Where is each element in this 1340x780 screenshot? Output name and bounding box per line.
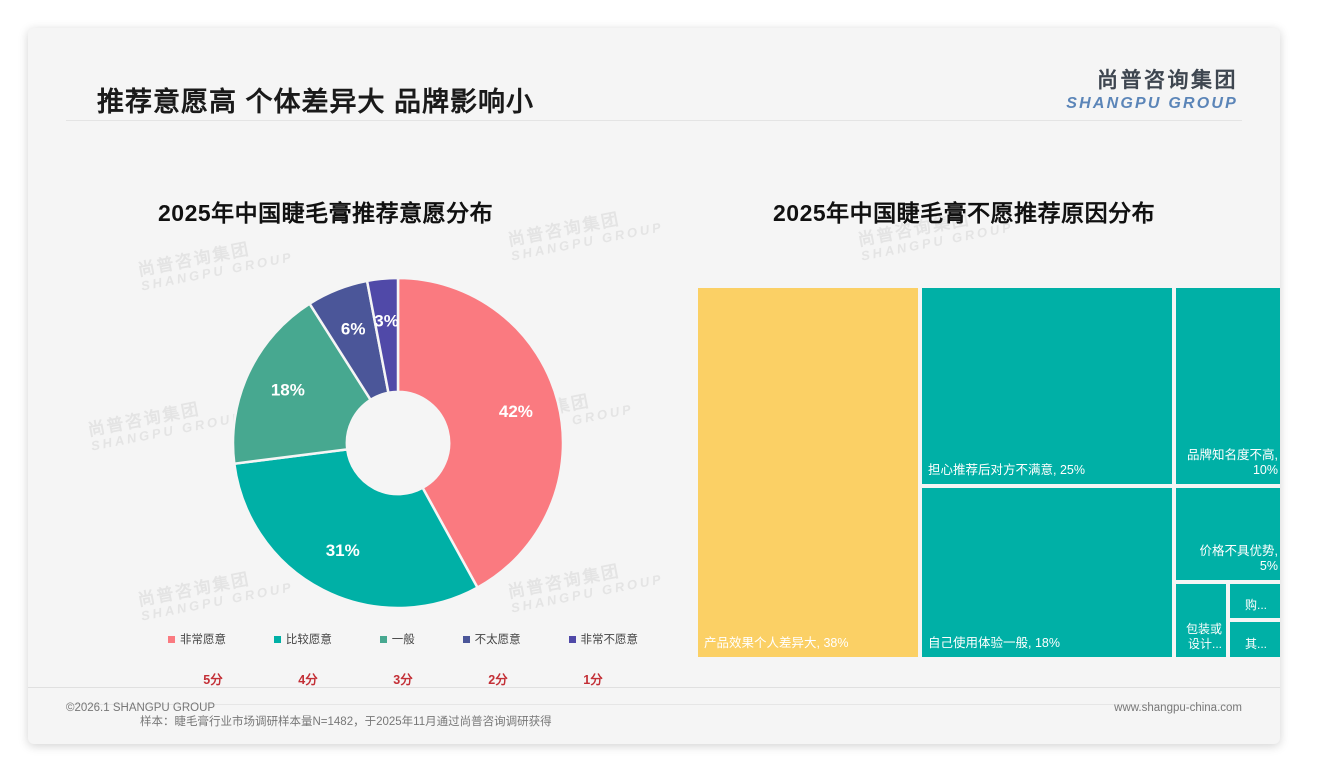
treemap-cell-label: 价格不具优势, 5% bbox=[1182, 544, 1278, 575]
score-row: 5分4分3分2分1分 bbox=[168, 669, 638, 688]
slide-canvas: 尚普咨询集团 SHANGPU GROUP 尚普咨询集团 SHANGPU GROU… bbox=[28, 28, 1280, 744]
score-label: 5分 bbox=[168, 669, 258, 688]
website-url: www.shangpu-china.com bbox=[1114, 702, 1242, 714]
donut-chart-title: 2025年中国睫毛膏推荐意愿分布 bbox=[158, 194, 493, 228]
treemap-cell[interactable]: 品牌知名度不高, 10% bbox=[1174, 286, 1280, 486]
legend-swatch-icon bbox=[380, 636, 387, 643]
donut-slice-label: 6% bbox=[341, 319, 366, 338]
score-label: 2分 bbox=[453, 669, 543, 688]
copyright-text: ©2026.1 SHANGPU GROUP bbox=[66, 702, 215, 714]
legend-label: 一般 bbox=[392, 631, 415, 647]
watermark: 尚普咨询集团 SHANGPU GROUP bbox=[506, 201, 665, 264]
treemap-cell-label: 其... bbox=[1233, 637, 1279, 652]
treemap-cell[interactable]: 自己使用体验一般, 18% bbox=[920, 486, 1174, 659]
legend-swatch-icon bbox=[463, 636, 470, 643]
legend-item[interactable]: 一般 bbox=[380, 631, 415, 647]
treemap-cell[interactable]: 其... bbox=[1228, 620, 1280, 659]
score-label: 1分 bbox=[548, 669, 638, 688]
treemap-cell-label: 包装或设计... bbox=[1182, 622, 1222, 652]
treemap-chart-title: 2025年中国睫毛膏不愿推荐原因分布 bbox=[773, 194, 1155, 228]
treemap-cell-label: 品牌知名度不高, 10% bbox=[1182, 448, 1278, 479]
legend-item[interactable]: 比较愿意 bbox=[274, 631, 332, 647]
legend-item[interactable]: 非常不愿意 bbox=[569, 631, 639, 647]
donut-slice-label: 3% bbox=[374, 311, 399, 330]
treemap-cell[interactable]: 产品效果个人差异大, 38% bbox=[696, 286, 920, 659]
score-label: 3分 bbox=[358, 669, 448, 688]
legend-item[interactable]: 不太愿意 bbox=[463, 631, 521, 647]
score-label: 4分 bbox=[263, 669, 353, 688]
logo-english-text: SHANGPU GROUP bbox=[1066, 95, 1238, 113]
treemap-cell[interactable]: 担心推荐后对方不满意, 25% bbox=[920, 286, 1174, 486]
treemap-cell[interactable]: 购... bbox=[1228, 582, 1280, 620]
donut-slice-label: 31% bbox=[326, 541, 360, 560]
unwilling-reasons-treemap-chart: 产品效果个人差异大, 38%担心推荐后对方不满意, 25%自己使用体验一般, 1… bbox=[696, 286, 1280, 659]
watermark-cn: 尚普咨询集团 bbox=[86, 391, 242, 439]
treemap-cell[interactable]: 包装或设计... bbox=[1174, 582, 1228, 659]
treemap-cell-label: 自己使用体验一般, 18% bbox=[928, 636, 1168, 652]
legend-label: 不太愿意 bbox=[475, 631, 521, 647]
legend-swatch-icon bbox=[168, 636, 175, 643]
watermark-en: SHANGPU GROUP bbox=[510, 220, 665, 264]
watermark-cn: 尚普咨询集团 bbox=[506, 201, 662, 249]
treemap-cell-label: 购... bbox=[1233, 598, 1279, 613]
treemap-cell[interactable]: 价格不具优势, 5% bbox=[1174, 486, 1280, 582]
legend-item[interactable]: 非常愿意 bbox=[168, 631, 226, 647]
donut-legend: 非常愿意比较愿意一般不太愿意非常不愿意 bbox=[168, 631, 638, 647]
legend-label: 比较愿意 bbox=[286, 631, 332, 647]
donut-slice-label: 42% bbox=[499, 402, 533, 421]
treemap-cell-label: 担心推荐后对方不满意, 25% bbox=[928, 463, 1168, 479]
recommendation-willingness-donut-chart: 42%31%18%6%3% bbox=[228, 273, 568, 613]
watermark: 尚普咨询集团 SHANGPU GROUP bbox=[86, 391, 245, 454]
brand-logo: 尚普咨询集团 SHANGPU GROUP bbox=[1066, 64, 1238, 113]
header-divider bbox=[66, 120, 1242, 121]
slide-header: 推荐意愿高 个体差异大 品牌影响小 尚普咨询集团 SHANGPU GROUP bbox=[28, 28, 1280, 120]
page-title: 推荐意愿高 个体差异大 品牌影响小 bbox=[97, 80, 534, 119]
donut-slice-label: 18% bbox=[271, 381, 305, 400]
legend-swatch-icon bbox=[569, 636, 576, 643]
watermark-en: SHANGPU GROUP bbox=[90, 410, 245, 454]
slide-footer: ©2026.1 SHANGPU GROUP www.shangpu-china.… bbox=[28, 687, 1280, 744]
legend-label: 非常愿意 bbox=[180, 631, 226, 647]
treemap-cell-label: 产品效果个人差异大, 38% bbox=[704, 636, 914, 652]
legend-swatch-icon bbox=[274, 636, 281, 643]
legend-label: 非常不愿意 bbox=[581, 631, 639, 647]
donut-svg: 42%31%18%6%3% bbox=[228, 273, 568, 613]
logo-chinese-text: 尚普咨询集团 bbox=[1066, 64, 1238, 94]
